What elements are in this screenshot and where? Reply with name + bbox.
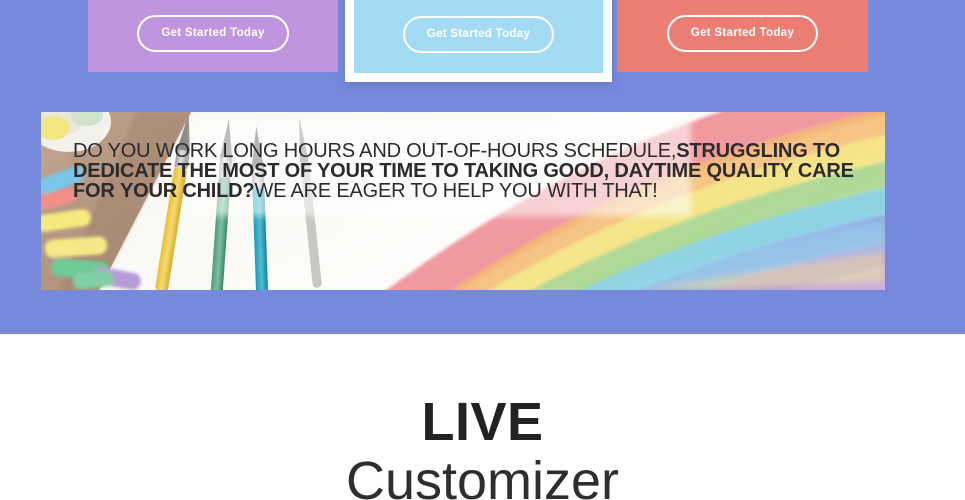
service-card-coral[interactable]: Music Lessons Get Started Today xyxy=(617,0,868,72)
promo-banner: DO YOU WORK LONG HOURS AND OUT-OF-HOURS … xyxy=(41,112,885,290)
get-started-button[interactable]: Get Started Today xyxy=(137,15,288,53)
get-started-button[interactable]: Get Started Today xyxy=(403,16,554,54)
live-subtitle: Customizer xyxy=(0,454,965,500)
promo-line3-bold: YOUR CHILD? xyxy=(120,180,254,202)
promo-line1-bold: STRUGGLING TO xyxy=(676,140,840,162)
live-customizer-section: LIVE Customizer xyxy=(0,334,965,500)
promo-line3-regular: WE ARE EAGER TO HELP YOU WITH THAT! xyxy=(254,180,657,202)
service-card-blue[interactable]: Music Lessons Get Started Today xyxy=(354,0,603,73)
service-card-blue-frame: Music Lessons Get Started Today xyxy=(345,0,612,82)
live-title: LIVE xyxy=(0,395,965,449)
promo-text-block: DO YOU WORK LONG HOURS AND OUT-OF-HOURS … xyxy=(73,141,863,201)
promo-headline: DO YOU WORK LONG HOURS AND OUT-OF-HOURS … xyxy=(73,141,863,201)
page-root: Music Lessons Get Started Today Music Le… xyxy=(0,0,965,500)
get-started-button[interactable]: Get Started Today xyxy=(667,15,818,53)
service-cards-row: Music Lessons Get Started Today Music Le… xyxy=(0,0,965,90)
promo-line1-regular: DO YOU WORK LONG HOURS AND OUT-OF-HOURS … xyxy=(73,140,676,162)
service-card-purple[interactable]: Music Lessons Get Started Today xyxy=(88,0,338,72)
